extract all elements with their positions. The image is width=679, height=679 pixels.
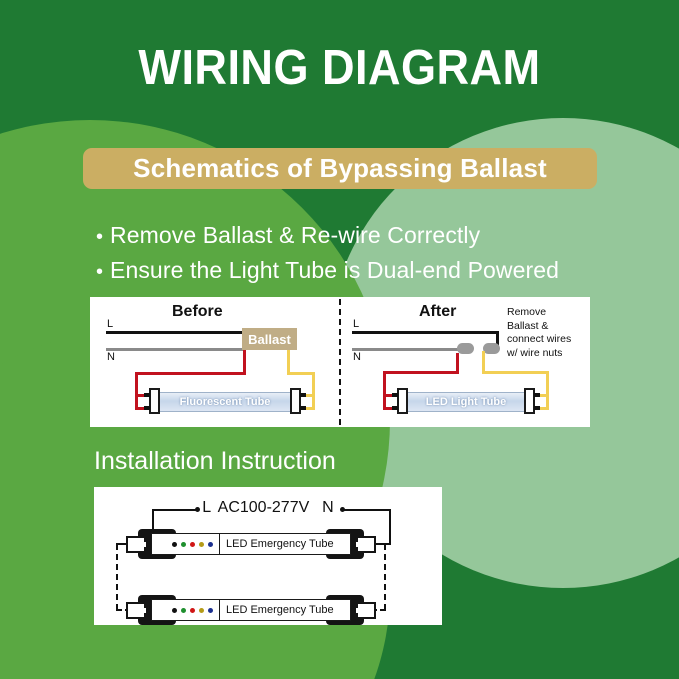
ballast-box: Ballast — [242, 328, 297, 350]
after-neutral-wire — [352, 348, 458, 351]
before-neutral-wire — [106, 348, 246, 351]
before-schematic: Before L N Ballast — [90, 297, 339, 427]
installation-panel: L AC100-277V N — [94, 487, 442, 625]
after-red-wire-seg-2 — [383, 371, 459, 374]
after-note: Remove Ballast & connect wires w/ wire n… — [507, 306, 571, 360]
before-after-panel: Before L N Ballast — [90, 297, 590, 427]
led-emergency-tube-label: LED Emergency Tube — [226, 599, 334, 621]
led-indicator-black — [172, 608, 177, 613]
fluorescent-tube: Fluorescent Tube — [145, 390, 305, 412]
tube-pin-left-top — [392, 393, 398, 397]
tube-pin-right-top — [534, 393, 540, 397]
bullet-label: Remove Ballast & Re-wire Correctly — [110, 222, 480, 249]
before-yellow-wire-seg-1 — [287, 350, 290, 374]
after-note-line: Ballast & — [507, 320, 571, 334]
supply-neutral-label: N — [322, 499, 334, 516]
bullet-dot-icon: • — [96, 262, 110, 282]
inst-right-feed-h1 — [343, 509, 391, 511]
led-indicator-red — [190, 608, 195, 613]
after-schematic: After L N — [341, 297, 590, 427]
before-neutral-label: N — [107, 351, 115, 363]
before-heading: Before — [172, 303, 223, 321]
tube-end-cap-left — [397, 388, 408, 414]
tube-glass: Fluorescent Tube — [157, 392, 293, 412]
after-yellow-wire-seg-2 — [482, 371, 549, 374]
after-note-line: connect wires — [507, 333, 571, 347]
wire-nut-left — [457, 343, 474, 354]
supply-voltage-label: AC100-277V — [218, 499, 310, 516]
installation-heading: Installation Instruction — [94, 447, 336, 476]
before-red-wire-seg-1 — [243, 350, 246, 374]
list-item: • Ensure the Light Tube is Dual-end Powe… — [96, 257, 616, 284]
led-indicator-group — [168, 533, 220, 555]
after-red-wire-seg-3 — [383, 371, 386, 410]
page-title: WIRING DIAGRAM — [27, 40, 652, 96]
after-note-line: w/ wire nuts — [507, 347, 571, 361]
after-yellow-wire-seg-1 — [482, 351, 485, 373]
after-yellow-wire-seg-3 — [546, 371, 549, 410]
led-indicator-red — [190, 542, 195, 547]
after-line-label: L — [353, 318, 359, 330]
before-yellow-wire-seg-2 — [287, 372, 315, 375]
bullet-list: • Remove Ballast & Re-wire Correctly • E… — [96, 222, 616, 292]
tube-pin-left-top — [144, 393, 150, 397]
after-note-line: Remove — [507, 306, 571, 320]
led-emergency-tube-1: LED Emergency Tube — [126, 529, 376, 559]
led-emergency-tube-label: LED Emergency Tube — [226, 533, 334, 555]
tube-pin-right-bottom — [534, 406, 540, 410]
wire-nut-right — [483, 343, 500, 354]
before-red-wire-seg-6 — [135, 394, 138, 410]
inst-right-dash-v — [384, 544, 386, 610]
tube-end-cap-right — [524, 388, 535, 414]
led-emergency-tube-2: LED Emergency Tube — [126, 595, 376, 625]
before-line-label: L — [107, 318, 113, 330]
led-light-tube-label: LED Light Tube — [426, 396, 506, 408]
tube-end-cap-right — [290, 388, 301, 414]
after-red-wire-seg-1 — [456, 353, 459, 373]
tube-pin-left-bottom — [144, 406, 150, 410]
tube-pin-right-top — [300, 393, 306, 397]
tube-glass: LED Light Tube — [405, 392, 527, 412]
inst-left-feed-h1 — [152, 509, 197, 511]
supply-line-label: L — [202, 499, 211, 516]
led-indicator-green — [181, 542, 186, 547]
inst-right-feed-v — [389, 509, 391, 545]
led-indicator-yellow — [199, 542, 204, 547]
fluorescent-tube-label: Fluorescent Tube — [180, 396, 271, 408]
led-light-tube: LED Light Tube — [393, 390, 539, 412]
bullet-dot-icon: • — [96, 227, 110, 247]
led-indicator-blue — [208, 542, 213, 547]
led-indicator-blue — [208, 608, 213, 613]
led-indicator-black — [172, 542, 177, 547]
led-indicator-group — [168, 599, 220, 621]
inst-left-dash-v — [116, 544, 118, 610]
after-neutral-label: N — [353, 351, 361, 363]
tube-end-cap-left — [149, 388, 160, 414]
wiring-diagram-poster: WIRING DIAGRAM Schematics of Bypassing B… — [0, 0, 679, 679]
subtitle-banner-label: Schematics of Bypassing Ballast — [133, 153, 547, 184]
list-item: • Remove Ballast & Re-wire Correctly — [96, 222, 616, 249]
inst-right-feed-h2 — [374, 543, 391, 545]
bullet-label: Ensure the Light Tube is Dual-end Powere… — [110, 257, 559, 284]
tube-pin-right-bottom — [300, 406, 306, 410]
tube-pin-left-bottom — [392, 406, 398, 410]
before-line-wire — [106, 331, 246, 334]
after-line-wire — [352, 331, 499, 334]
subtitle-banner: Schematics of Bypassing Ballast — [83, 148, 597, 189]
led-indicator-yellow — [199, 608, 204, 613]
before-red-wire-seg-2 — [135, 372, 246, 375]
before-yellow-wire-seg-3 — [312, 372, 315, 410]
after-heading: After — [419, 303, 456, 321]
led-indicator-green — [181, 608, 186, 613]
ballast-label: Ballast — [248, 332, 291, 347]
